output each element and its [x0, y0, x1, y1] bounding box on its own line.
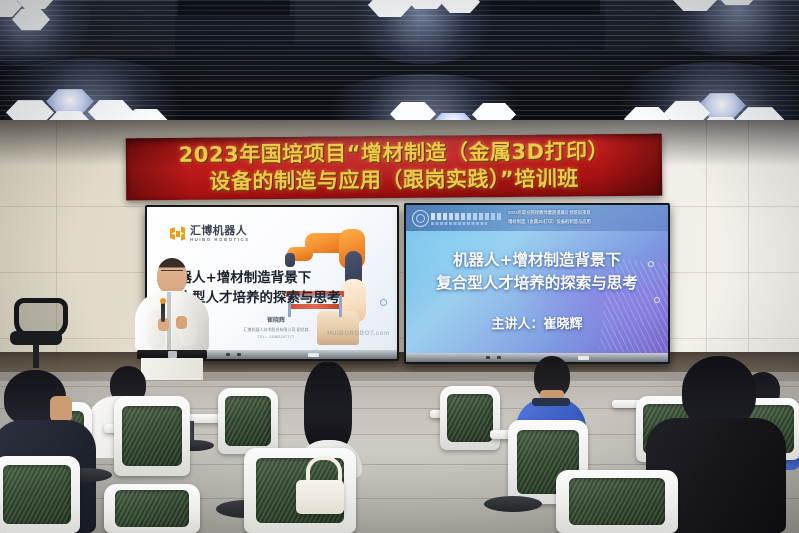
- right-slide: 2023年职业院校教师素质提高计划培训项目 增材制造（金属3D打印）设备的制造与…: [406, 205, 668, 353]
- huibo-logo-mark: [170, 226, 185, 241]
- right-slide-header-line2: 增材制造（金属3D打印）设备的制造与应用: [508, 219, 591, 225]
- chair-right-back[interactable]: [440, 386, 500, 450]
- institution-name-graphic: [431, 213, 501, 220]
- ceiling-recess: [178, 0, 290, 16]
- chair-foreground-right[interactable]: [556, 470, 678, 533]
- right-slide-header-line1: 2023年职业院校教师素质提高计划培训项目: [508, 210, 591, 216]
- presenter: [131, 258, 213, 378]
- glasses-icon: [161, 264, 183, 271]
- right-display-screen[interactable]: 2023年职业院校教师素质提高计划培训项目 增材制造（金属3D打印）设备的制造与…: [404, 203, 670, 364]
- chair-center-back[interactable]: [218, 388, 278, 454]
- polo-collar: [532, 398, 570, 406]
- hex-light-top-center: [368, 0, 478, 32]
- chair-foreground-left-2[interactable]: [104, 484, 200, 533]
- huibo-logo-en: HUIBO ROBOTICS: [190, 238, 250, 242]
- right-slide-speaker: 主讲人：崔晓辉: [406, 313, 668, 332]
- hex-light-top-right: [672, 0, 799, 26]
- chair-foreground-left[interactable]: [0, 456, 80, 533]
- white-handbag[interactable]: [296, 456, 344, 514]
- ceiling: [0, 0, 799, 136]
- right-slide-title-line1: 机器人+增材制造背景下: [406, 249, 668, 272]
- institution-seal-icon: [412, 210, 429, 227]
- left-slide-watermark: HUIBOROBOT.com: [327, 331, 390, 337]
- institution-subname-graphic: [431, 222, 487, 225]
- microphone-icon: [161, 302, 165, 322]
- hex-light-top-left: [0, 0, 78, 36]
- banner-line-2: 设备的制造与应用（跟岗实践）”培训班: [209, 165, 579, 195]
- table-base: [484, 496, 542, 512]
- slide-decoration-dot: [654, 297, 660, 303]
- left-slide-speaker-name: 崔晓辉: [201, 315, 351, 324]
- huibo-logo: 汇博机器人 HUIBO ROBOTICS: [170, 225, 250, 242]
- banner-line-1: 2023年国培项目“增材制造（金属3D打印）: [179, 138, 610, 169]
- huibo-logo-cn: 汇博机器人: [190, 225, 250, 236]
- attendee-hair: [304, 362, 352, 450]
- attendee-ear: [50, 396, 72, 422]
- chair-left-mid-2[interactable]: [114, 396, 190, 476]
- seminar-room-photo: 2023年国培项目“增材制造（金属3D打印） 设备的制造与应用（跟岗实践）”培训…: [0, 0, 799, 533]
- belt-buckle: [168, 351, 177, 358]
- event-banner: 2023年国培项目“增材制造（金属3D打印） 设备的制造与应用（跟岗实践）”培训…: [126, 134, 663, 201]
- right-slide-title-line2: 复合型人才培养的探索与思考: [406, 272, 668, 295]
- right-slide-title: 机器人+增材制造背景下 复合型人才培养的探索与思考: [406, 249, 668, 296]
- presenter-hand: [176, 316, 187, 329]
- office-chair[interactable]: [8, 298, 64, 376]
